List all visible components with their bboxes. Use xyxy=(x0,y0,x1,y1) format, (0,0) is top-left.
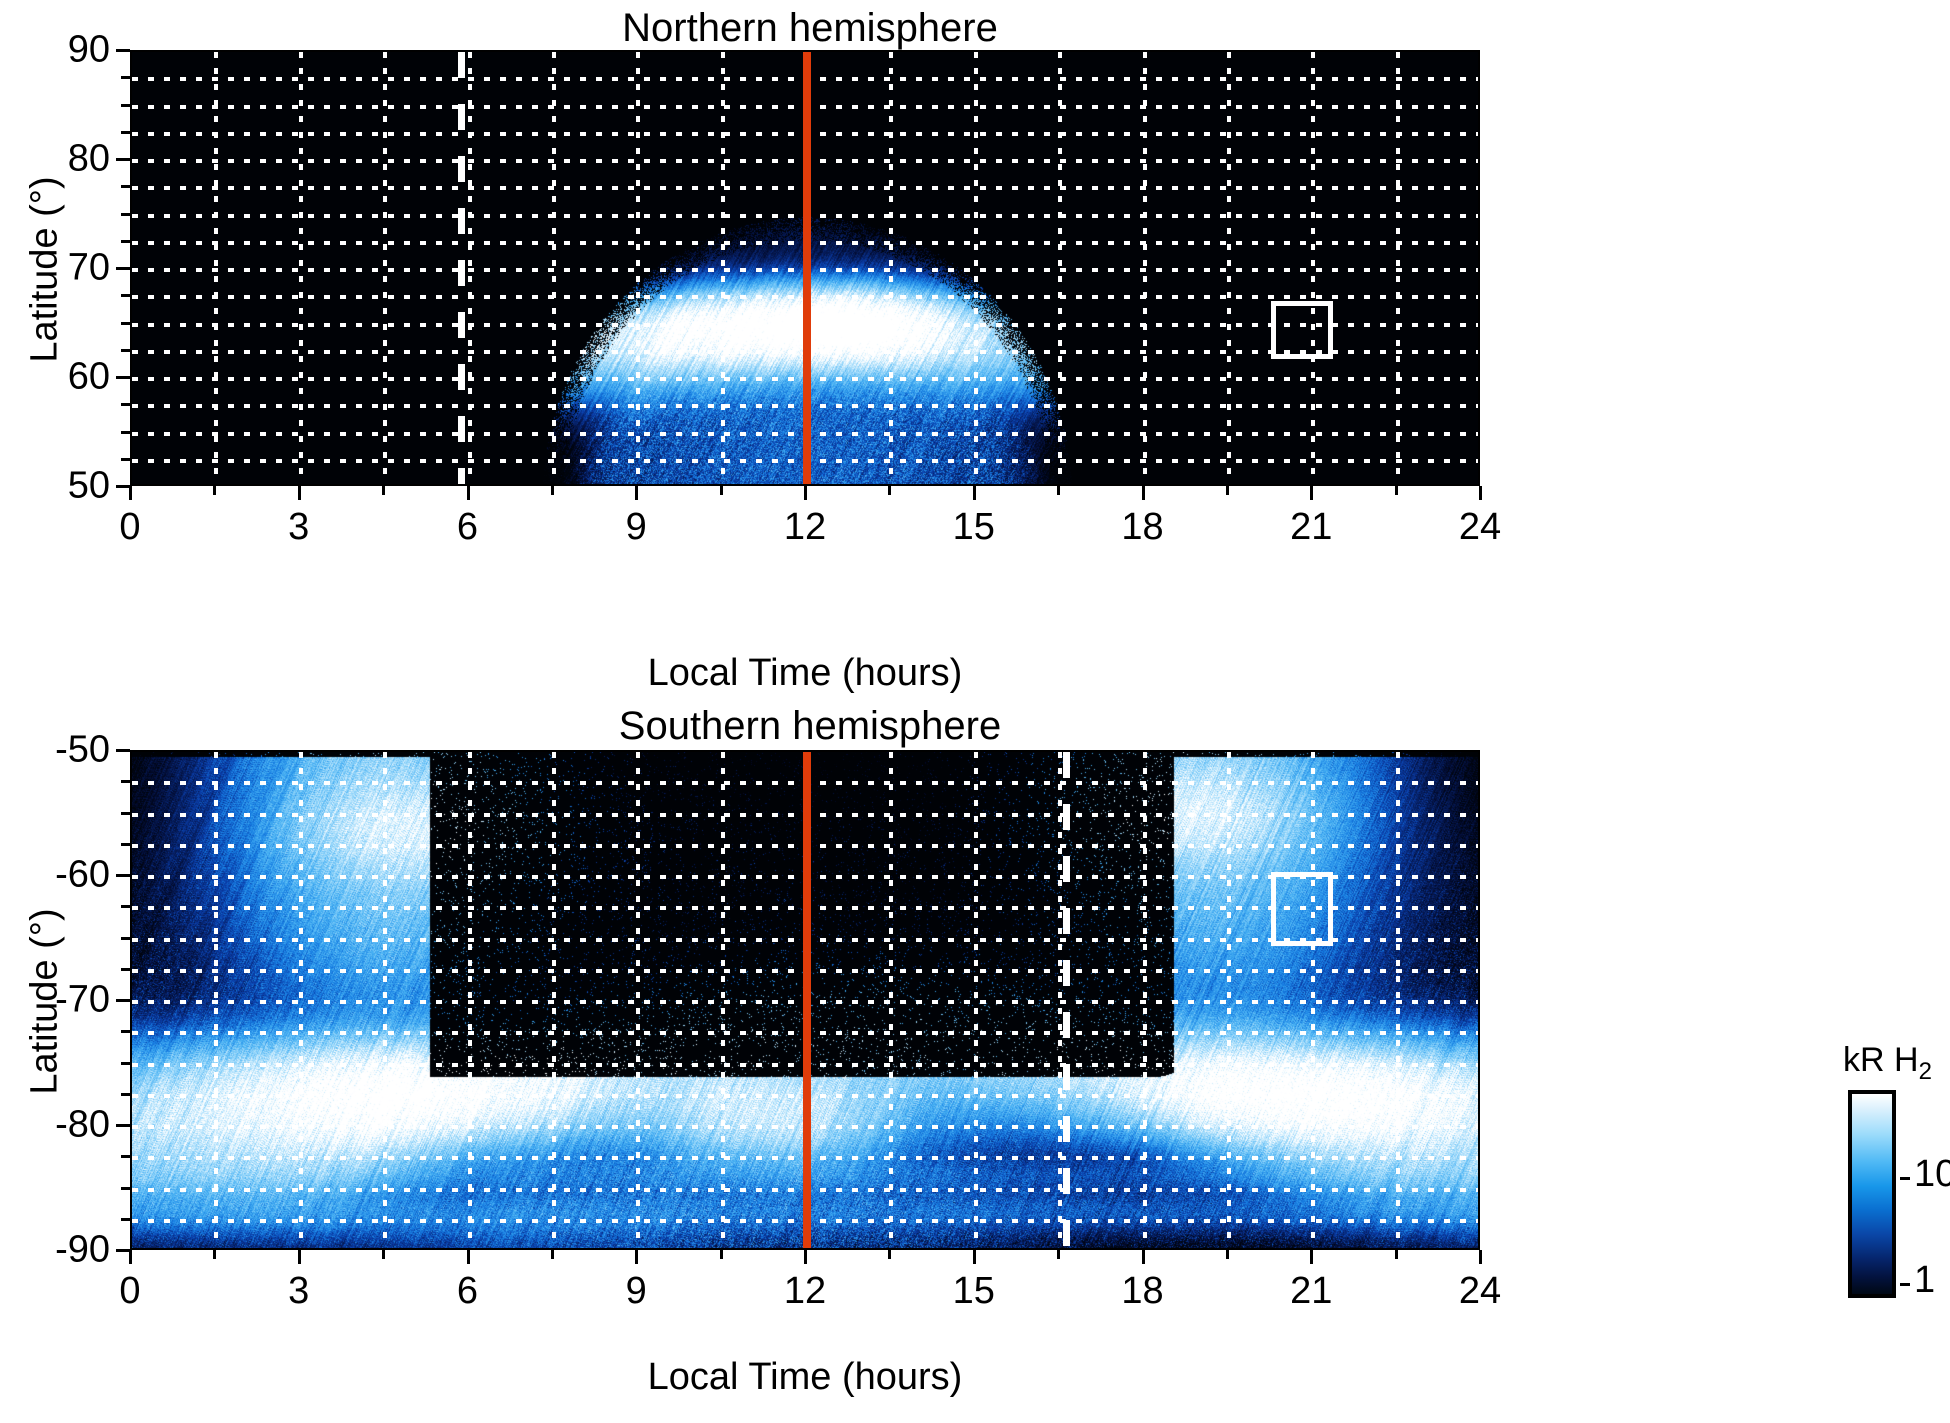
y-axis-tick-label: -90 xyxy=(0,1229,110,1272)
colorbar-tick-label: 1 xyxy=(1914,1259,1935,1302)
aurora-heatmap-southern xyxy=(132,752,1480,1250)
y-axis-tick xyxy=(116,1249,130,1252)
y-axis-minor-tick xyxy=(121,213,130,216)
y-axis-tick-label: -50 xyxy=(0,729,110,772)
x-axis-tick xyxy=(635,1250,638,1264)
colorbar-title: kR H2 xyxy=(1843,1041,1932,1086)
y-axis-minor-tick xyxy=(121,780,130,783)
x-axis-minor-tick xyxy=(1226,486,1229,495)
x-axis-tick-label: 18 xyxy=(1121,506,1163,549)
panel-title-southern: Southern hemisphere xyxy=(130,704,1490,749)
x-axis-tick-label: 21 xyxy=(1290,1270,1332,1313)
colorbar-tick xyxy=(1900,1283,1910,1286)
y-axis-minor-tick xyxy=(121,843,130,846)
colorbar xyxy=(1848,1090,1896,1298)
y-axis-tick xyxy=(116,158,130,161)
y-axis-minor-tick xyxy=(121,1030,130,1033)
colorbar-title-text: kR H xyxy=(1843,1041,1919,1079)
y-axis-tick-label: 90 xyxy=(0,29,110,72)
y-axis-tick-label: 50 xyxy=(0,465,110,508)
x-axis-minor-tick xyxy=(382,1250,385,1259)
x-axis-tick xyxy=(129,1250,132,1264)
x-axis-tick xyxy=(467,1250,470,1264)
x-axis-label-northern: Local Time (hours) xyxy=(130,652,1480,695)
panel-title-northern: Northern hemisphere xyxy=(130,6,1490,51)
y-axis-tick xyxy=(116,376,130,379)
x-axis-tick xyxy=(1310,486,1313,500)
y-axis-minor-tick xyxy=(121,104,130,107)
y-axis-minor-tick xyxy=(121,1155,130,1158)
y-axis-minor-tick xyxy=(121,1062,130,1065)
x-axis-tick-label: 9 xyxy=(626,506,647,549)
y-axis-tick-label: 70 xyxy=(0,247,110,290)
x-axis-tick-label: 15 xyxy=(953,506,995,549)
y-axis-tick xyxy=(116,749,130,752)
x-axis-tick xyxy=(1479,1250,1482,1264)
x-axis-tick xyxy=(973,486,976,500)
x-axis-tick-label: 12 xyxy=(784,1270,826,1313)
y-axis-minor-tick xyxy=(121,240,130,243)
x-axis-tick xyxy=(635,486,638,500)
x-axis-minor-tick xyxy=(720,486,723,495)
x-axis-tick-label: 21 xyxy=(1290,506,1332,549)
x-axis-tick-label: 3 xyxy=(288,506,309,549)
x-axis-tick-label: 6 xyxy=(457,1270,478,1313)
y-axis-minor-tick xyxy=(121,905,130,908)
x-axis-tick xyxy=(804,1250,807,1264)
colorbar-title-subscript: 2 xyxy=(1919,1058,1932,1085)
y-axis-minor-tick xyxy=(121,458,130,461)
x-axis-tick xyxy=(467,486,470,500)
x-axis-minor-tick xyxy=(1226,1250,1229,1259)
y-axis-tick-label: 60 xyxy=(0,356,110,399)
y-axis-tick xyxy=(116,485,130,488)
x-axis-tick-label: 24 xyxy=(1459,506,1501,549)
y-axis-minor-tick xyxy=(121,1093,130,1096)
y-axis-minor-tick xyxy=(121,1187,130,1190)
y-axis-minor-tick xyxy=(121,812,130,815)
x-axis-minor-tick xyxy=(551,1250,554,1259)
x-axis-tick-label: 9 xyxy=(626,1270,647,1313)
x-axis-minor-tick xyxy=(1395,1250,1398,1259)
x-axis-tick-label: 0 xyxy=(119,506,140,549)
figure-root: Northern hemisphere Latitude (°) Local T… xyxy=(0,0,1950,1423)
x-axis-tick-label: 6 xyxy=(457,506,478,549)
x-axis-tick-label: 3 xyxy=(288,1270,309,1313)
x-axis-minor-tick xyxy=(1395,486,1398,495)
x-axis-tick xyxy=(129,486,132,500)
x-axis-tick xyxy=(973,1250,976,1264)
x-axis-minor-tick xyxy=(382,486,385,495)
y-axis-tick xyxy=(116,999,130,1002)
x-axis-tick-label: 18 xyxy=(1121,1270,1163,1313)
y-axis-minor-tick xyxy=(121,937,130,940)
aurora-heatmap-northern xyxy=(132,52,1480,486)
y-axis-tick xyxy=(116,1124,130,1127)
y-axis-minor-tick xyxy=(121,431,130,434)
x-axis-tick-label: 15 xyxy=(953,1270,995,1313)
y-axis-tick-label: -60 xyxy=(0,854,110,897)
y-axis-tick xyxy=(116,49,130,52)
y-axis-minor-tick xyxy=(121,1218,130,1221)
x-axis-minor-tick xyxy=(1057,486,1060,495)
x-axis-tick-label: 24 xyxy=(1459,1270,1501,1313)
plot-area-northern xyxy=(130,50,1480,486)
x-axis-minor-tick xyxy=(213,486,216,495)
x-axis-tick xyxy=(1479,486,1482,500)
y-axis-minor-tick xyxy=(121,403,130,406)
y-axis-tick xyxy=(116,874,130,877)
x-axis-minor-tick xyxy=(720,1250,723,1259)
x-axis-label-southern: Local Time (hours) xyxy=(130,1356,1480,1399)
y-axis-tick-label: 80 xyxy=(0,138,110,181)
x-axis-tick xyxy=(1142,1250,1145,1264)
x-axis-minor-tick xyxy=(1057,1250,1060,1259)
x-axis-minor-tick xyxy=(551,486,554,495)
y-axis-tick xyxy=(116,267,130,270)
plot-area-southern xyxy=(130,750,1480,1250)
x-axis-tick xyxy=(804,486,807,500)
y-axis-minor-tick xyxy=(121,322,130,325)
colorbar-tick xyxy=(1900,1177,1910,1180)
colorbar-tick-label: 10 xyxy=(1914,1153,1950,1196)
y-axis-tick-label: -80 xyxy=(0,1104,110,1147)
y-axis-minor-tick xyxy=(121,294,130,297)
y-axis-minor-tick xyxy=(121,185,130,188)
y-axis-minor-tick xyxy=(121,968,130,971)
y-axis-minor-tick xyxy=(121,76,130,79)
x-axis-minor-tick xyxy=(213,1250,216,1259)
x-axis-tick xyxy=(1142,486,1145,500)
x-axis-minor-tick xyxy=(888,1250,891,1259)
x-axis-tick-label: 0 xyxy=(119,1270,140,1313)
x-axis-tick xyxy=(1310,1250,1313,1264)
x-axis-minor-tick xyxy=(888,486,891,495)
y-axis-minor-tick xyxy=(121,349,130,352)
y-axis-tick-label: -70 xyxy=(0,979,110,1022)
x-axis-tick xyxy=(298,1250,301,1264)
x-axis-tick-label: 12 xyxy=(784,506,826,549)
y-axis-minor-tick xyxy=(121,131,130,134)
x-axis-tick xyxy=(298,486,301,500)
